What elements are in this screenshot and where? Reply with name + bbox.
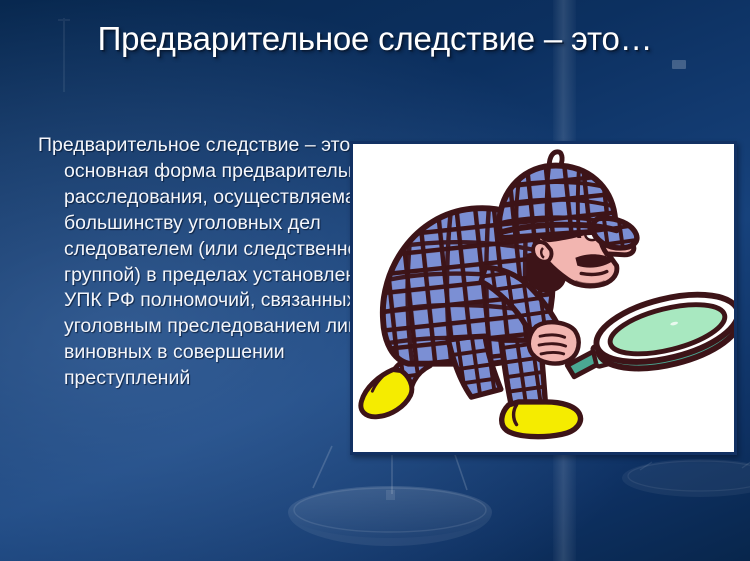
detective-front-shoe [502, 402, 581, 437]
detective-illustration [353, 144, 734, 452]
scale-pan-right [622, 459, 750, 497]
slide-body-text: Предварительное следствие – это основная… [38, 133, 394, 473]
detective-picture-frame [350, 141, 737, 455]
scale-glint-right [672, 60, 686, 69]
scale-pan-left [288, 486, 492, 546]
detective-hand [529, 322, 579, 363]
presentation-slide: Предварительное следствие – это… Предвар… [0, 0, 750, 561]
slide-title: Предварительное следствие – это… [0, 17, 750, 61]
